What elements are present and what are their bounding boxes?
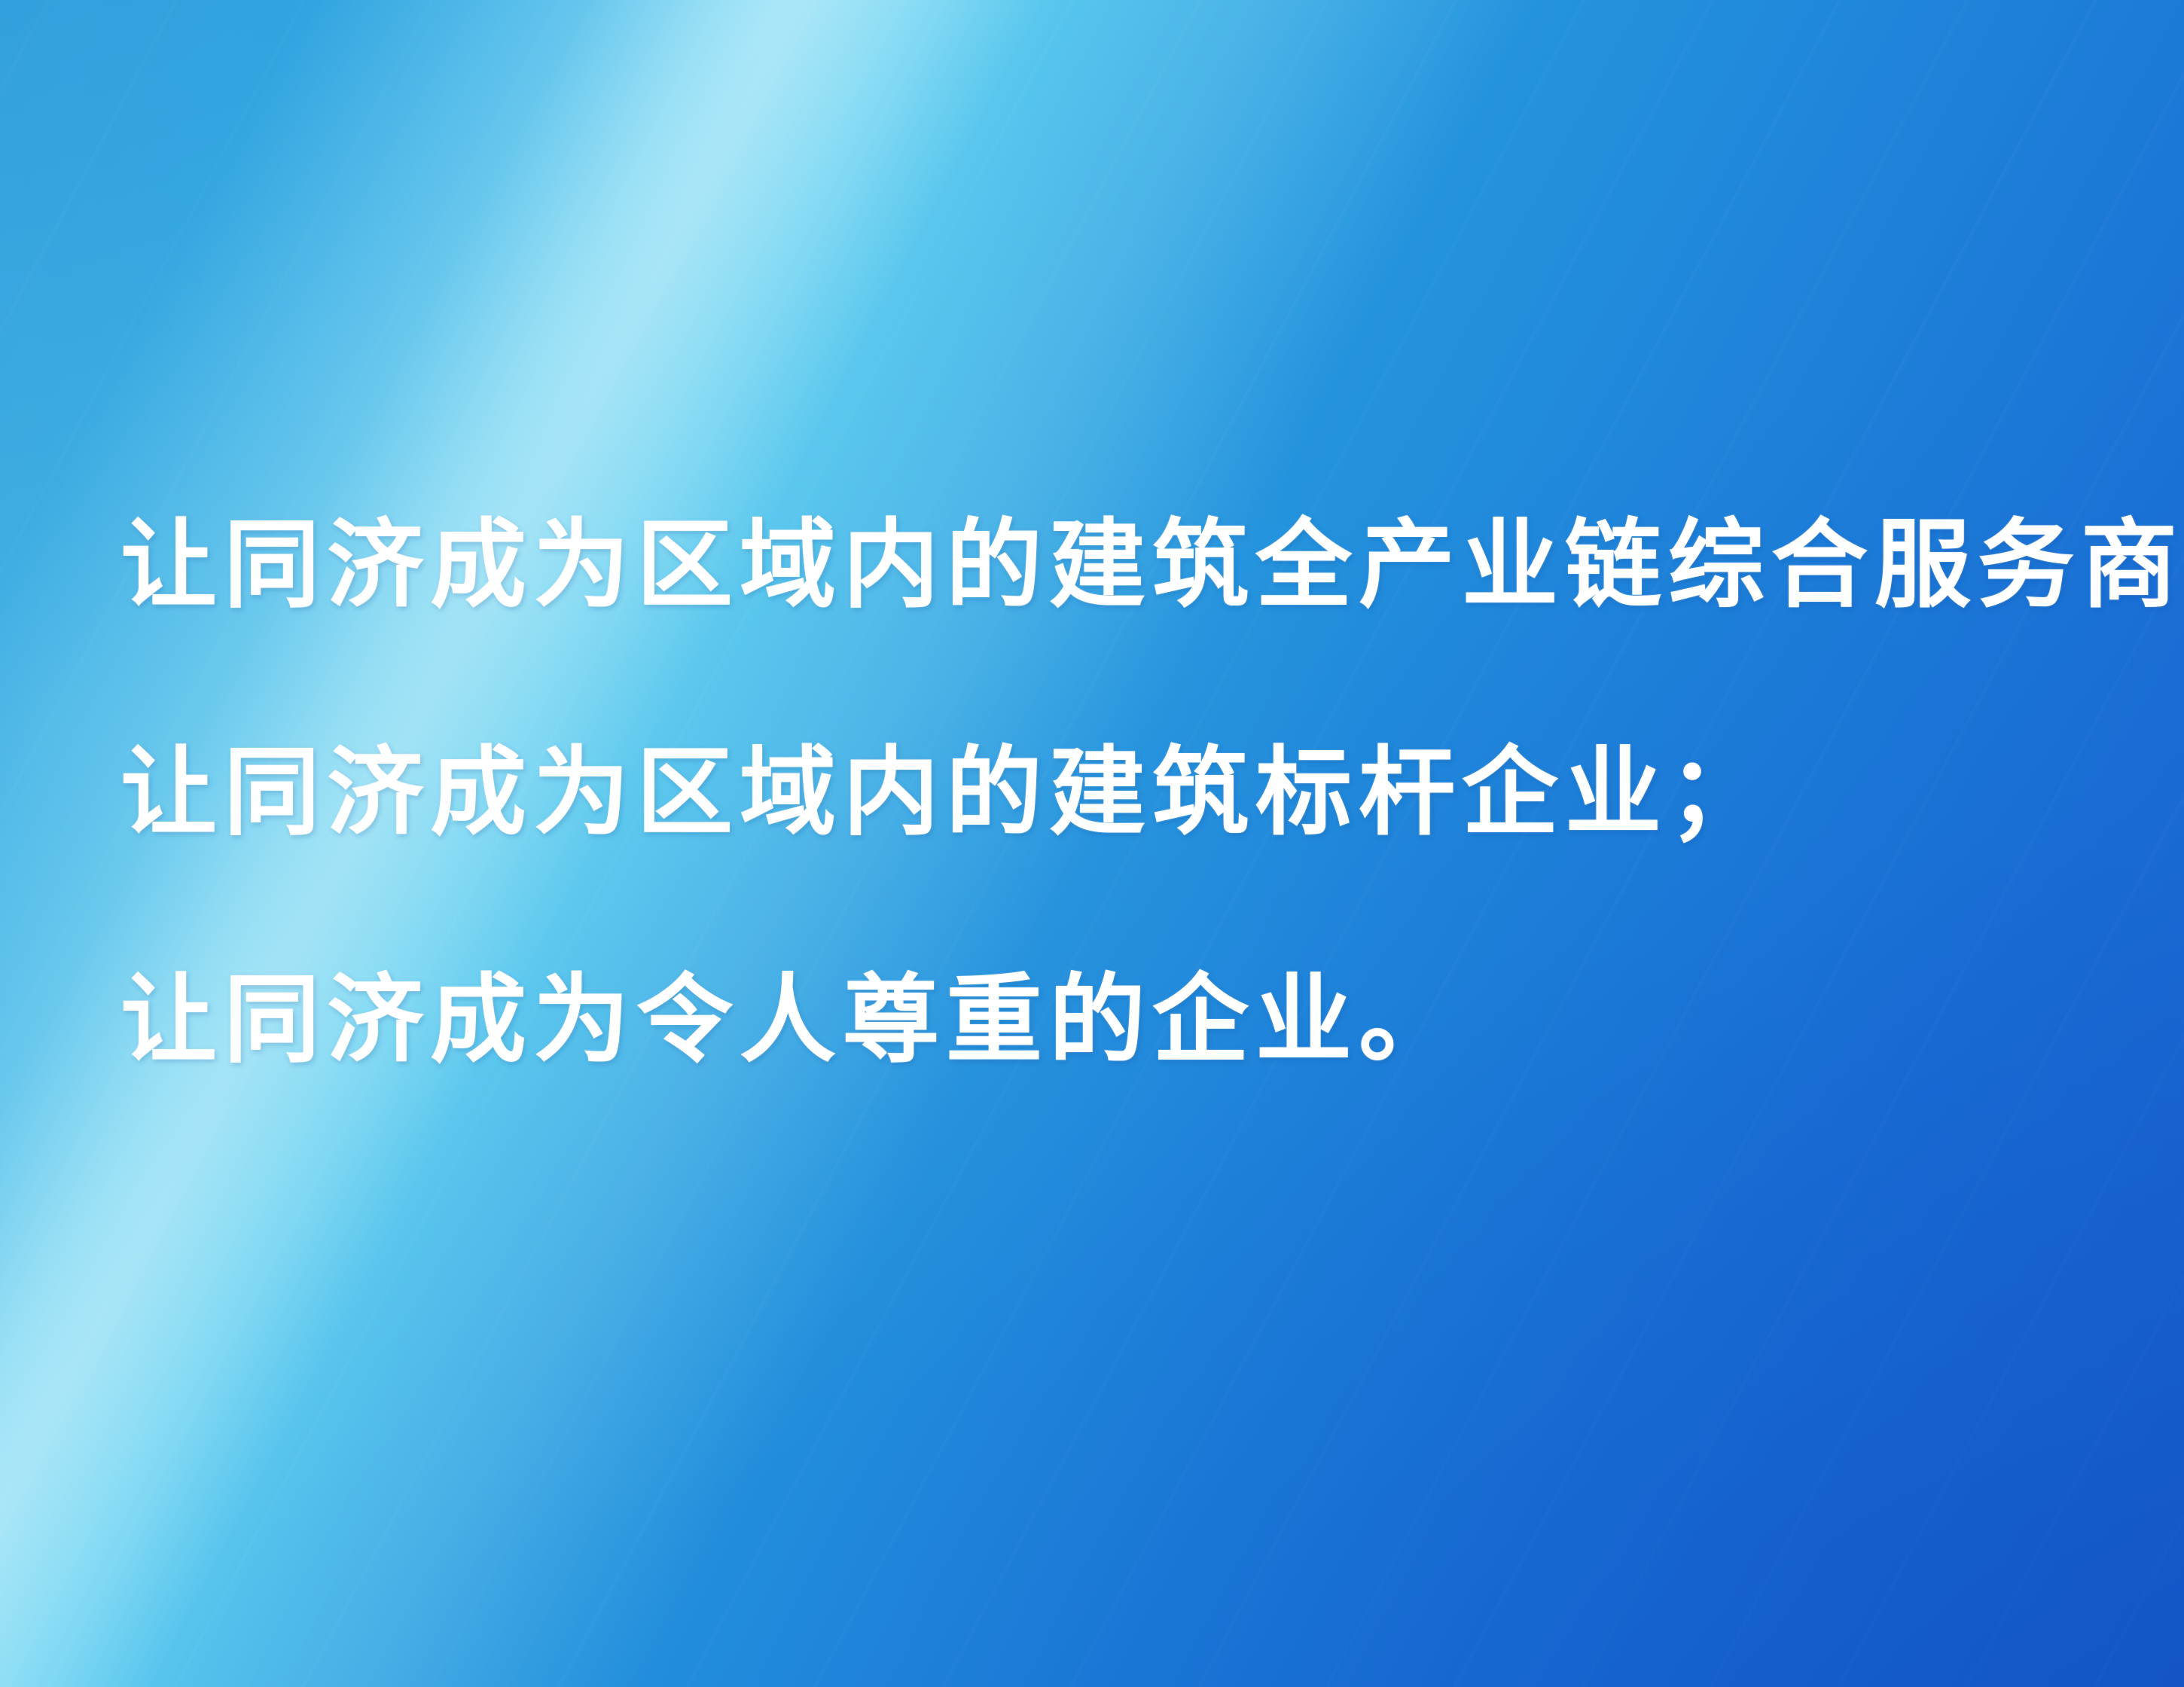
vision-line-3: 让同济成为令人尊重的企业。 bbox=[120, 907, 2079, 1134]
slide-canvas: 让同济成为区域内的建筑全产业链综合服务商； 让同济成为区域内的建筑标杆企业； 让… bbox=[0, 0, 2184, 1687]
vision-line-1: 让同济成为区域内的建筑全产业链综合服务商； bbox=[120, 452, 2079, 679]
vision-line-2: 让同济成为区域内的建筑标杆企业； bbox=[120, 679, 2079, 907]
vision-statement-block: 让同济成为区域内的建筑全产业链综合服务商； 让同济成为区域内的建筑标杆企业； 让… bbox=[120, 452, 2079, 1134]
